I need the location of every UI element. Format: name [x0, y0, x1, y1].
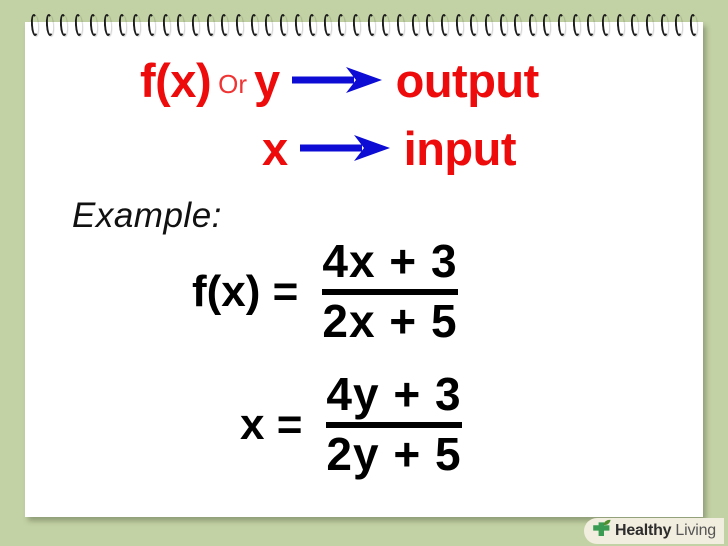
- equation-lhs: x =: [240, 403, 302, 447]
- fraction: 4y + 3 2y + 5: [326, 370, 461, 479]
- green-cross-leaf-icon: [592, 519, 612, 543]
- mapping-row-input: x input: [262, 125, 516, 172]
- example-heading: Example:: [72, 196, 222, 236]
- equation-fx: f(x) = 4x + 3 2x + 5: [192, 237, 458, 346]
- fraction-denominator: 2x + 5: [322, 297, 457, 347]
- watermark-logo: HealthyLiving: [584, 518, 724, 544]
- function-notation-label: f(x): [140, 57, 211, 104]
- fraction-numerator: 4y + 3: [326, 370, 461, 420]
- fraction-bar: [322, 289, 457, 295]
- watermark-text: HealthyLiving: [615, 522, 716, 540]
- watermark-name-light: Living: [675, 522, 716, 539]
- screenshot-canvas: f(x) Or y output x input Example: f(x) =…: [0, 0, 728, 546]
- variable-x-label: x: [262, 125, 288, 172]
- fraction-numerator: 4x + 3: [322, 237, 457, 287]
- or-connector-label: Or: [218, 71, 247, 97]
- right-arrow-icon: [300, 133, 392, 168]
- fraction: 4x + 3 2x + 5: [322, 237, 457, 346]
- mapping-row-output: f(x) Or y output: [140, 57, 539, 104]
- equation-lhs: f(x) =: [192, 270, 298, 314]
- watermark-name-bold: Healthy: [615, 522, 671, 539]
- input-label: input: [404, 125, 516, 172]
- equation-x: x = 4y + 3 2y + 5: [240, 370, 462, 479]
- right-arrow-icon: [292, 65, 384, 100]
- variable-y-label: y: [254, 57, 280, 104]
- fraction-bar: [326, 422, 461, 428]
- output-label: output: [396, 57, 539, 104]
- fraction-denominator: 2y + 5: [326, 430, 461, 480]
